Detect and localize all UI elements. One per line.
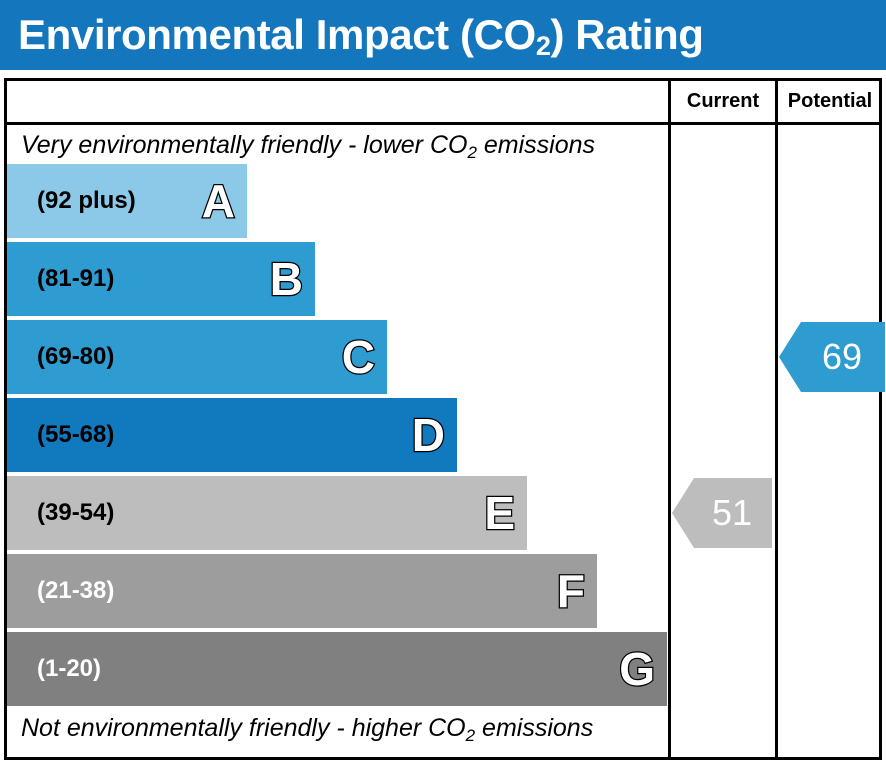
epc-environmental-impact-chart: Environmental Impact (CO2) Rating Curren… xyxy=(0,0,886,764)
rating-table: Current Potential Very environmentally f… xyxy=(4,78,882,760)
band-c: (69-80)C xyxy=(7,320,387,394)
band-letter-e: E xyxy=(484,490,515,536)
potential-rating-value: 69 xyxy=(802,339,862,375)
band-letter-f: F xyxy=(557,568,585,614)
band-range-f: (21-38) xyxy=(37,577,114,605)
header-banner: Environmental Impact (CO2) Rating xyxy=(0,0,886,70)
band-b: (81-91)B xyxy=(7,242,315,316)
band-letter-c: C xyxy=(342,334,375,380)
caption-bottom: Not environmentally friendly - higher CO… xyxy=(21,714,593,743)
caption-bottom-suffix: emissions xyxy=(475,714,593,742)
page-title-subscript: 2 xyxy=(536,31,551,61)
band-range-c: (69-80) xyxy=(37,343,114,371)
page-title-suffix: ) Rating xyxy=(550,11,703,58)
caption-top: Very environmentally friendly - lower CO… xyxy=(21,131,595,160)
band-range-g: (1-20) xyxy=(37,655,101,683)
caption-top-suffix: emissions xyxy=(477,131,595,159)
band-e: (39-54)E xyxy=(7,476,527,550)
current-rating-value: 51 xyxy=(692,495,752,531)
band-g: (1-20)G xyxy=(7,632,667,706)
band-f: (21-38)F xyxy=(7,554,597,628)
band-range-d: (55-68) xyxy=(37,421,114,449)
band-letter-g: G xyxy=(619,646,655,692)
band-letter-d: D xyxy=(412,412,445,458)
page-title-prefix: Environmental Impact (CO xyxy=(18,11,536,58)
band-a: (92 plus)A xyxy=(7,164,247,238)
band-letter-b: B xyxy=(270,256,303,302)
band-letter-a: A xyxy=(202,178,235,224)
band-range-e: (39-54) xyxy=(37,499,114,527)
potential-column-divider xyxy=(775,81,778,757)
band-range-b: (81-91) xyxy=(37,265,114,293)
potential-rating-arrow: 69 xyxy=(779,322,885,392)
current-rating-arrow: 51 xyxy=(672,478,772,548)
page-title: Environmental Impact (CO2) Rating xyxy=(18,9,704,66)
current-column-divider xyxy=(668,81,671,757)
caption-top-subscript: 2 xyxy=(467,143,476,162)
caption-bottom-subscript: 2 xyxy=(466,726,475,745)
band-range-a: (92 plus) xyxy=(37,187,136,215)
caption-bottom-prefix: Not environmentally friendly - higher CO xyxy=(21,714,466,742)
band-d: (55-68)D xyxy=(7,398,457,472)
caption-top-prefix: Very environmentally friendly - lower CO xyxy=(21,131,467,159)
column-header-potential: Potential xyxy=(778,81,882,122)
column-header-current: Current xyxy=(671,81,775,122)
bands-chart-area: Very environmentally friendly - lower CO… xyxy=(7,125,668,760)
